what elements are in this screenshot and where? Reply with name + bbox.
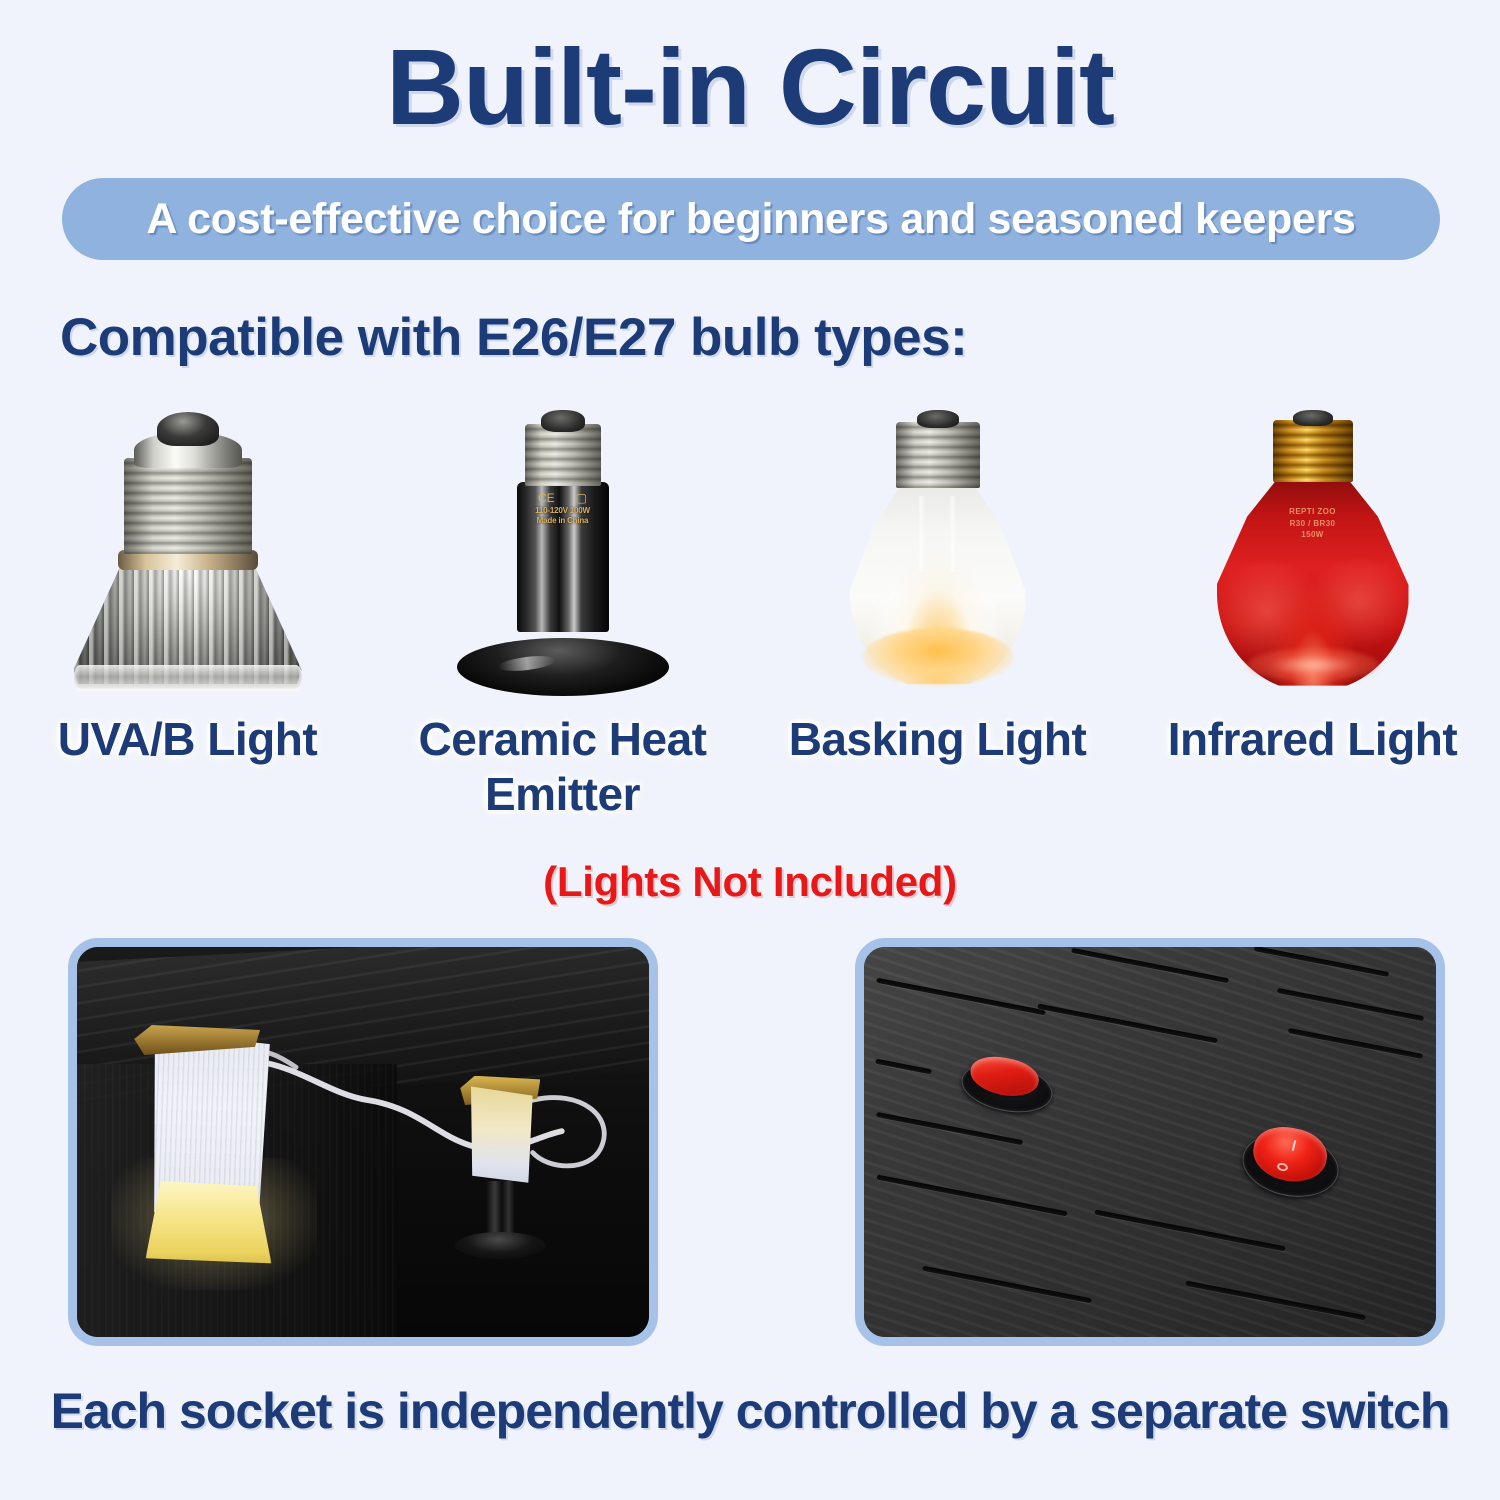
label-cell-basking: Basking Light [750, 712, 1125, 842]
infrared-print: REPTI ZOO R30 / BR30 150W [1267, 506, 1359, 541]
bulb-label-row: UVA/B Light Ceramic Heat Emitter Basking… [0, 712, 1500, 842]
filament-posts [907, 496, 969, 572]
screw-base-threads [124, 458, 252, 554]
contact-tip [917, 410, 959, 428]
reflector-halogen-bulb-icon [73, 412, 303, 697]
second-socket-base [455, 1232, 547, 1259]
bulb-cell-infrared: REPTI ZOO R30 / BR30 150W [1125, 402, 1500, 702]
bulb-label-ceramic: Ceramic Heat Emitter [375, 712, 750, 822]
contact-tip [157, 412, 219, 446]
frosted-basking-bulb-icon [833, 410, 1043, 700]
lit-socket-photo [68, 938, 658, 1346]
bulb-cell-ceramic: CE ▢ 110-120V 100W Made in China [375, 402, 750, 702]
footer-caption: Each socket is independently controlled … [0, 1382, 1500, 1440]
label-cell-uvab: UVA/B Light [0, 712, 375, 842]
waste-bin-mark-icon: ▢ [576, 492, 587, 504]
bulb-cell-uvab [0, 402, 375, 702]
rocker-switches-photo-inner [864, 947, 1436, 1337]
reflector-rim [74, 665, 302, 691]
lamp-light-output [146, 1181, 272, 1267]
infrared-hotspot [1247, 648, 1379, 682]
bulb-label-infrared: Infrared Light [1168, 712, 1457, 767]
infrared-print-line-3: 150W [1267, 529, 1359, 541]
infrared-print-line-2: R30 / BR30 [1267, 518, 1359, 530]
infrared-print-line-1: REPTI ZOO [1267, 506, 1359, 518]
bulb-label-uvab: UVA/B Light [58, 712, 317, 767]
label-cell-infrared: Infrared Light [1125, 712, 1500, 842]
bulb-cell-basking [750, 402, 1125, 702]
page-title: Built-in Circuit [0, 32, 1500, 142]
emitter-print-line-1: 110-120V 100W [520, 506, 606, 516]
red-infrared-bulb-icon: REPTI ZOO R30 / BR30 150W [1208, 410, 1418, 700]
subtitle-text: A cost-effective choice for beginners an… [146, 195, 1355, 244]
screw-base-threads [525, 424, 601, 486]
emitter-body [517, 482, 609, 632]
warm-glow [863, 628, 1013, 686]
lights-not-included-note: (Lights Not Included) [0, 858, 1500, 906]
bulb-type-row: CE ▢ 110-120V 100W Made in China REPTI Z… [0, 402, 1500, 702]
certification-marks: CE ▢ [528, 492, 598, 504]
emitter-print-line-2: Made in China [520, 516, 606, 526]
emitter-print: 110-120V 100W Made in China [520, 506, 606, 526]
contact-tip [541, 410, 585, 432]
compatibility-heading: Compatible with E26/E27 bulb types: [60, 307, 967, 368]
lit-socket-photo-inner [77, 947, 649, 1337]
ceramic-heat-emitter-icon: CE ▢ 110-120V 100W Made in China [448, 410, 678, 700]
contact-tip [1293, 410, 1333, 426]
rocker-switches-photo [855, 938, 1445, 1346]
bulb-label-basking: Basking Light [789, 712, 1087, 767]
brass-screw-base-threads [1273, 420, 1353, 482]
ce-mark-icon: CE [538, 492, 555, 504]
subtitle-banner: A cost-effective choice for beginners an… [62, 178, 1440, 260]
label-cell-ceramic: Ceramic Heat Emitter [375, 712, 750, 842]
second-socket-body [465, 1087, 535, 1190]
emitter-flared-base [457, 638, 669, 696]
screw-base-threads [896, 422, 980, 488]
